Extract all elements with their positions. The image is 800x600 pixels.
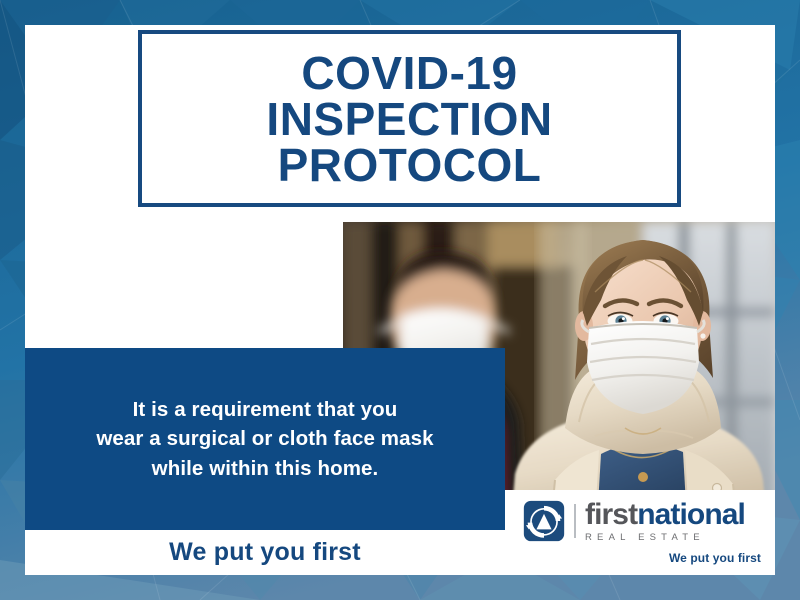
title-box: COVID-19 INSPECTION PROTOCOL <box>138 30 681 207</box>
poster-card: COVID-19 INSPECTION PROTOCOL <box>25 25 775 575</box>
requirement-message-block: It is a requirement that you wear a surg… <box>25 348 505 530</box>
logo-wordmark: firstnational <box>585 500 745 530</box>
logo-tagline: We put you first <box>523 551 761 565</box>
logo-subtitle: REAL ESTATE <box>585 533 745 543</box>
requirement-message-text: It is a requirement that you wear a surg… <box>78 395 451 482</box>
logo-wordmark-group: firstnational REAL ESTATE <box>585 500 745 543</box>
first-national-logo-mark-icon <box>523 500 565 542</box>
poster-root: COVID-19 INSPECTION PROTOCOL <box>0 0 800 600</box>
logo-row: firstnational REAL ESTATE <box>523 500 761 543</box>
tagline-strip: We put you first <box>25 530 505 575</box>
logo-word-first: first <box>585 498 637 531</box>
brand-logo-panel: firstnational REAL ESTATE We put you fir… <box>505 490 775 575</box>
logo-word-national: national <box>637 498 745 531</box>
tagline-text: We put you first <box>169 538 361 567</box>
page-title: COVID-19 INSPECTION PROTOCOL <box>260 50 558 188</box>
logo-divider <box>574 504 576 538</box>
